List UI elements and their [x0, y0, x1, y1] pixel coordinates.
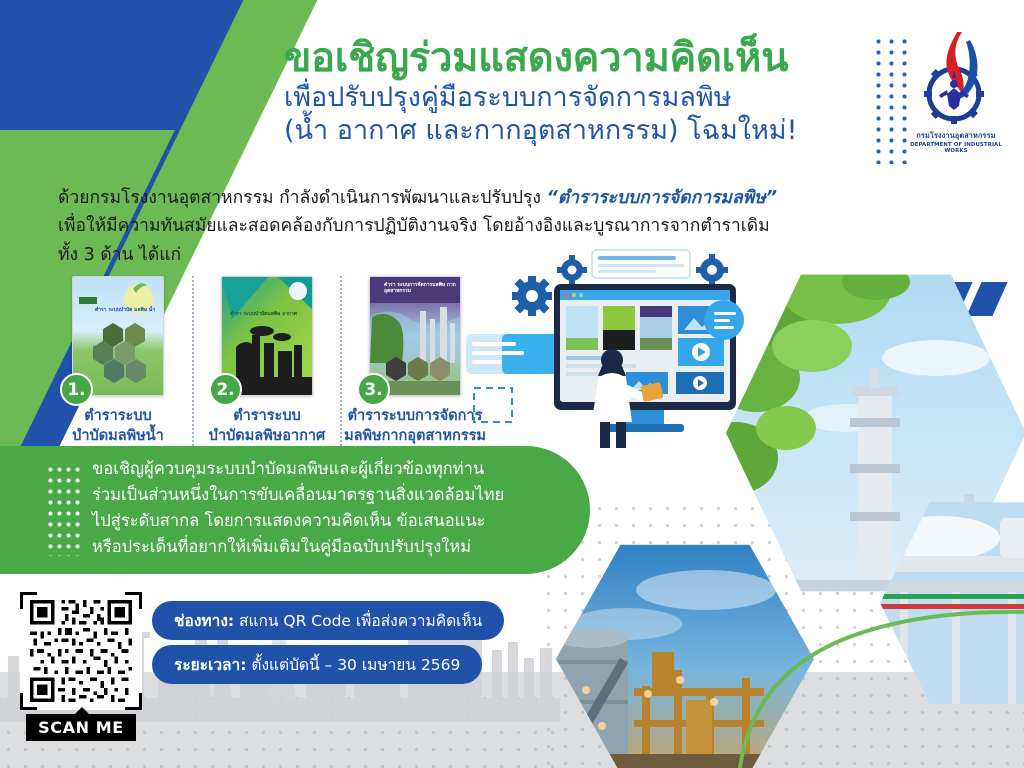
dashed-accent	[474, 388, 512, 422]
qr-code-icon[interactable]	[29, 600, 133, 702]
logo-name-en: DEPARTMENT OF INDUSTRIAL WORKS	[900, 142, 1012, 154]
channel-label: ช่องทาง:	[174, 612, 234, 630]
qr-code-block[interactable]: SCAN ME	[20, 592, 148, 741]
invitation-box: ขอเชิญผู้ควบคุมระบบบำบัดมลพิษและผู้เกี่ย…	[0, 446, 590, 574]
book-caption-line-2: มลพิษกากอุตสาหกรรม	[344, 428, 486, 444]
headline-sub-line-2: (น้ำ อากาศ และกากอุตสาหกรรม) โฉมใหม่!	[284, 114, 874, 147]
invitation-line-3: ไปสู่ระดับสากล โดยการแสดงความคิดเห็น ข้อ…	[92, 508, 562, 534]
body-emphasis-title: “ตำราระบบการจัดการมลพิษ”	[546, 188, 777, 208]
logo-name-th: กรมโรงงานอุตสาหกรรม	[900, 131, 1012, 142]
invitation-dot-pattern	[46, 464, 80, 556]
book-caption-line-1: ตำราระบบ	[84, 408, 151, 424]
book-caption-line-1: ตำราระบบ	[233, 408, 300, 424]
body-line-1: ด้วยกรมโรงงานอุตสาหกรรม กำลังดำเนินการพั…	[58, 188, 546, 208]
search-bubble-icon	[704, 300, 744, 340]
book-number-badge: 1.	[60, 373, 93, 406]
book-caption: ตำราระบบการจัดการ มลพิษกากอุตสาหกรรม	[344, 407, 486, 446]
gear-icon	[512, 276, 552, 316]
book-number-badge: 3.	[357, 373, 390, 406]
headline-main: ขอเชิญร่วมแสดงความคิดเห็น	[284, 36, 874, 81]
invitation-text: ขอเชิญผู้ควบคุมระบบบำบัดมลพิษและผู้เกี่ย…	[92, 456, 562, 560]
book-cover-wrap: ตำรา ระบบบำบัด มลพิษ น้ำ 1.	[72, 276, 164, 396]
book-caption: ตำราระบบ บำบัดมลพิษน้ำ	[72, 407, 164, 446]
invitation-line-2: ร่วมเป็นส่วนหนึ่งในการขับเคลื่อนมาตรฐานส…	[92, 482, 562, 508]
book-list: ตำรา ระบบบำบัด มลพิษ น้ำ 1. ตำราระบบ บำบ…	[44, 276, 488, 446]
poster-canvas: กรมโรงงานอุตสาหกรรม DEPARTMENT OF INDUST…	[0, 0, 1024, 768]
diw-logo: กรมโรงงานอุตสาหกรรม DEPARTMENT OF INDUST…	[900, 26, 1012, 166]
channel-badge: ช่องทาง: สแกน QR Code เพื่อส่งความคิดเห็…	[152, 601, 504, 640]
green-swoosh-accent	[684, 568, 1024, 768]
floating-text-card	[592, 250, 690, 278]
book-number-badge: 2.	[209, 373, 242, 406]
illustration-person-at-monitor	[466, 248, 746, 448]
invitation-line-1: ขอเชิญผู้ควบคุมระบบบำบัดมลพิษและผู้เกี่ย…	[92, 456, 562, 482]
parallelogram-accent	[966, 282, 1007, 316]
headline-block: ขอเชิญร่วมแสดงความคิดเห็น เพื่อปรับปรุงค…	[284, 36, 874, 148]
scan-me-label: SCAN ME	[26, 714, 136, 741]
gear-icon	[557, 255, 587, 285]
chat-bubble-icon	[466, 334, 562, 374]
book-cover-wrap: ตำรา ระบบการจัดการมลพิษ กากอุตสาหกรรม 3.	[369, 276, 461, 396]
book-caption: ตำราระบบ บำบัดมลพิษอากาศ	[209, 407, 326, 446]
monitor-display	[554, 284, 736, 432]
invitation-line-4: หรือประเด็นที่อยากให้เพิ่มเติมในคู่มือฉบ…	[92, 534, 562, 560]
body-line-2: เพื่อให้มีความทันสมัยและสอดคล้องกับการปฏ…	[58, 216, 770, 236]
book-item-2: ตำรา ระบบบำบัดมลพิษ อากาศ 2. ตำราระบบ บำ…	[192, 276, 340, 446]
book-cover-title: ตำรา ระบบการจัดการมลพิษ กากอุตสาหกรรม	[384, 282, 460, 295]
qr-frame	[20, 592, 142, 710]
channel-value: สแกน QR Code เพื่อส่งความคิดเห็น	[234, 612, 482, 630]
book-cover-title: ตำรา ระบบบำบัด มลพิษ น้ำ	[95, 307, 155, 313]
period-value: ตั้งแต่บัดนี้ – 30 เมษายน 2569	[246, 656, 460, 674]
book-caption-line-2: บำบัดมลพิษน้ำ	[72, 428, 164, 444]
book-item-1: ตำรา ระบบบำบัด มลพิษ น้ำ 1. ตำราระบบ บำบ…	[44, 276, 192, 446]
book-cover-wrap: ตำรา ระบบบำบัดมลพิษ อากาศ 2.	[221, 276, 313, 396]
period-badge: ระยะเวลา: ตั้งแต่บัดนี้ – 30 เมษายน 2569	[152, 645, 482, 684]
book-cover-title: ตำรา ระบบบำบัดมลพิษ อากาศ	[230, 311, 297, 317]
body-line-3: ทั้ง 3 ด้าน ได้แก่	[58, 245, 181, 265]
book-caption-line-2: บำบัดมลพิษอากาศ	[209, 428, 326, 444]
gear-icon	[696, 254, 728, 286]
diw-emblem-icon	[908, 26, 1004, 130]
headline-sub-line-1: เพื่อปรับปรุงคู่มือระบบการจัดการมลพิษ	[284, 81, 874, 114]
book-caption-line-1: ตำราระบบการจัดการ	[348, 408, 483, 424]
period-label: ระยะเวลา:	[174, 656, 246, 674]
